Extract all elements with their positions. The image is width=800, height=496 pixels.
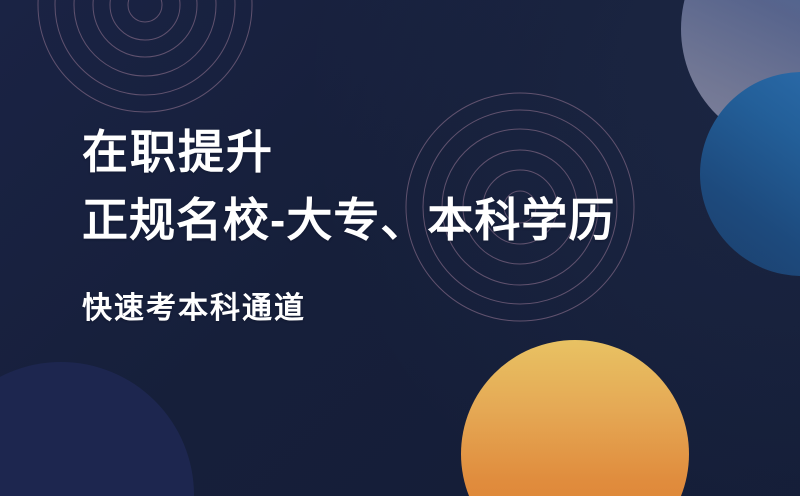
headline-block: 在职提升 正规名校-大专、本科学历 快速考本科通道 xyxy=(82,122,722,342)
ring-4 xyxy=(74,0,216,76)
ring-6 xyxy=(38,0,252,112)
orange-sun-circle xyxy=(461,340,689,496)
promo-banner: 在职提升 正规名校-大专、本科学历 快速考本科通道 xyxy=(0,0,800,496)
ring-5 xyxy=(55,0,235,95)
ring-3 xyxy=(93,0,197,57)
headline-line-2: 正规名校-大专、本科学历 xyxy=(82,182,722,258)
navy-circle xyxy=(0,362,194,496)
ring-2 xyxy=(110,0,180,40)
ring-1 xyxy=(128,0,162,22)
headline-line-1: 在职提升 xyxy=(82,122,722,182)
headline-line-3: 快速考本科通道 xyxy=(82,276,722,342)
